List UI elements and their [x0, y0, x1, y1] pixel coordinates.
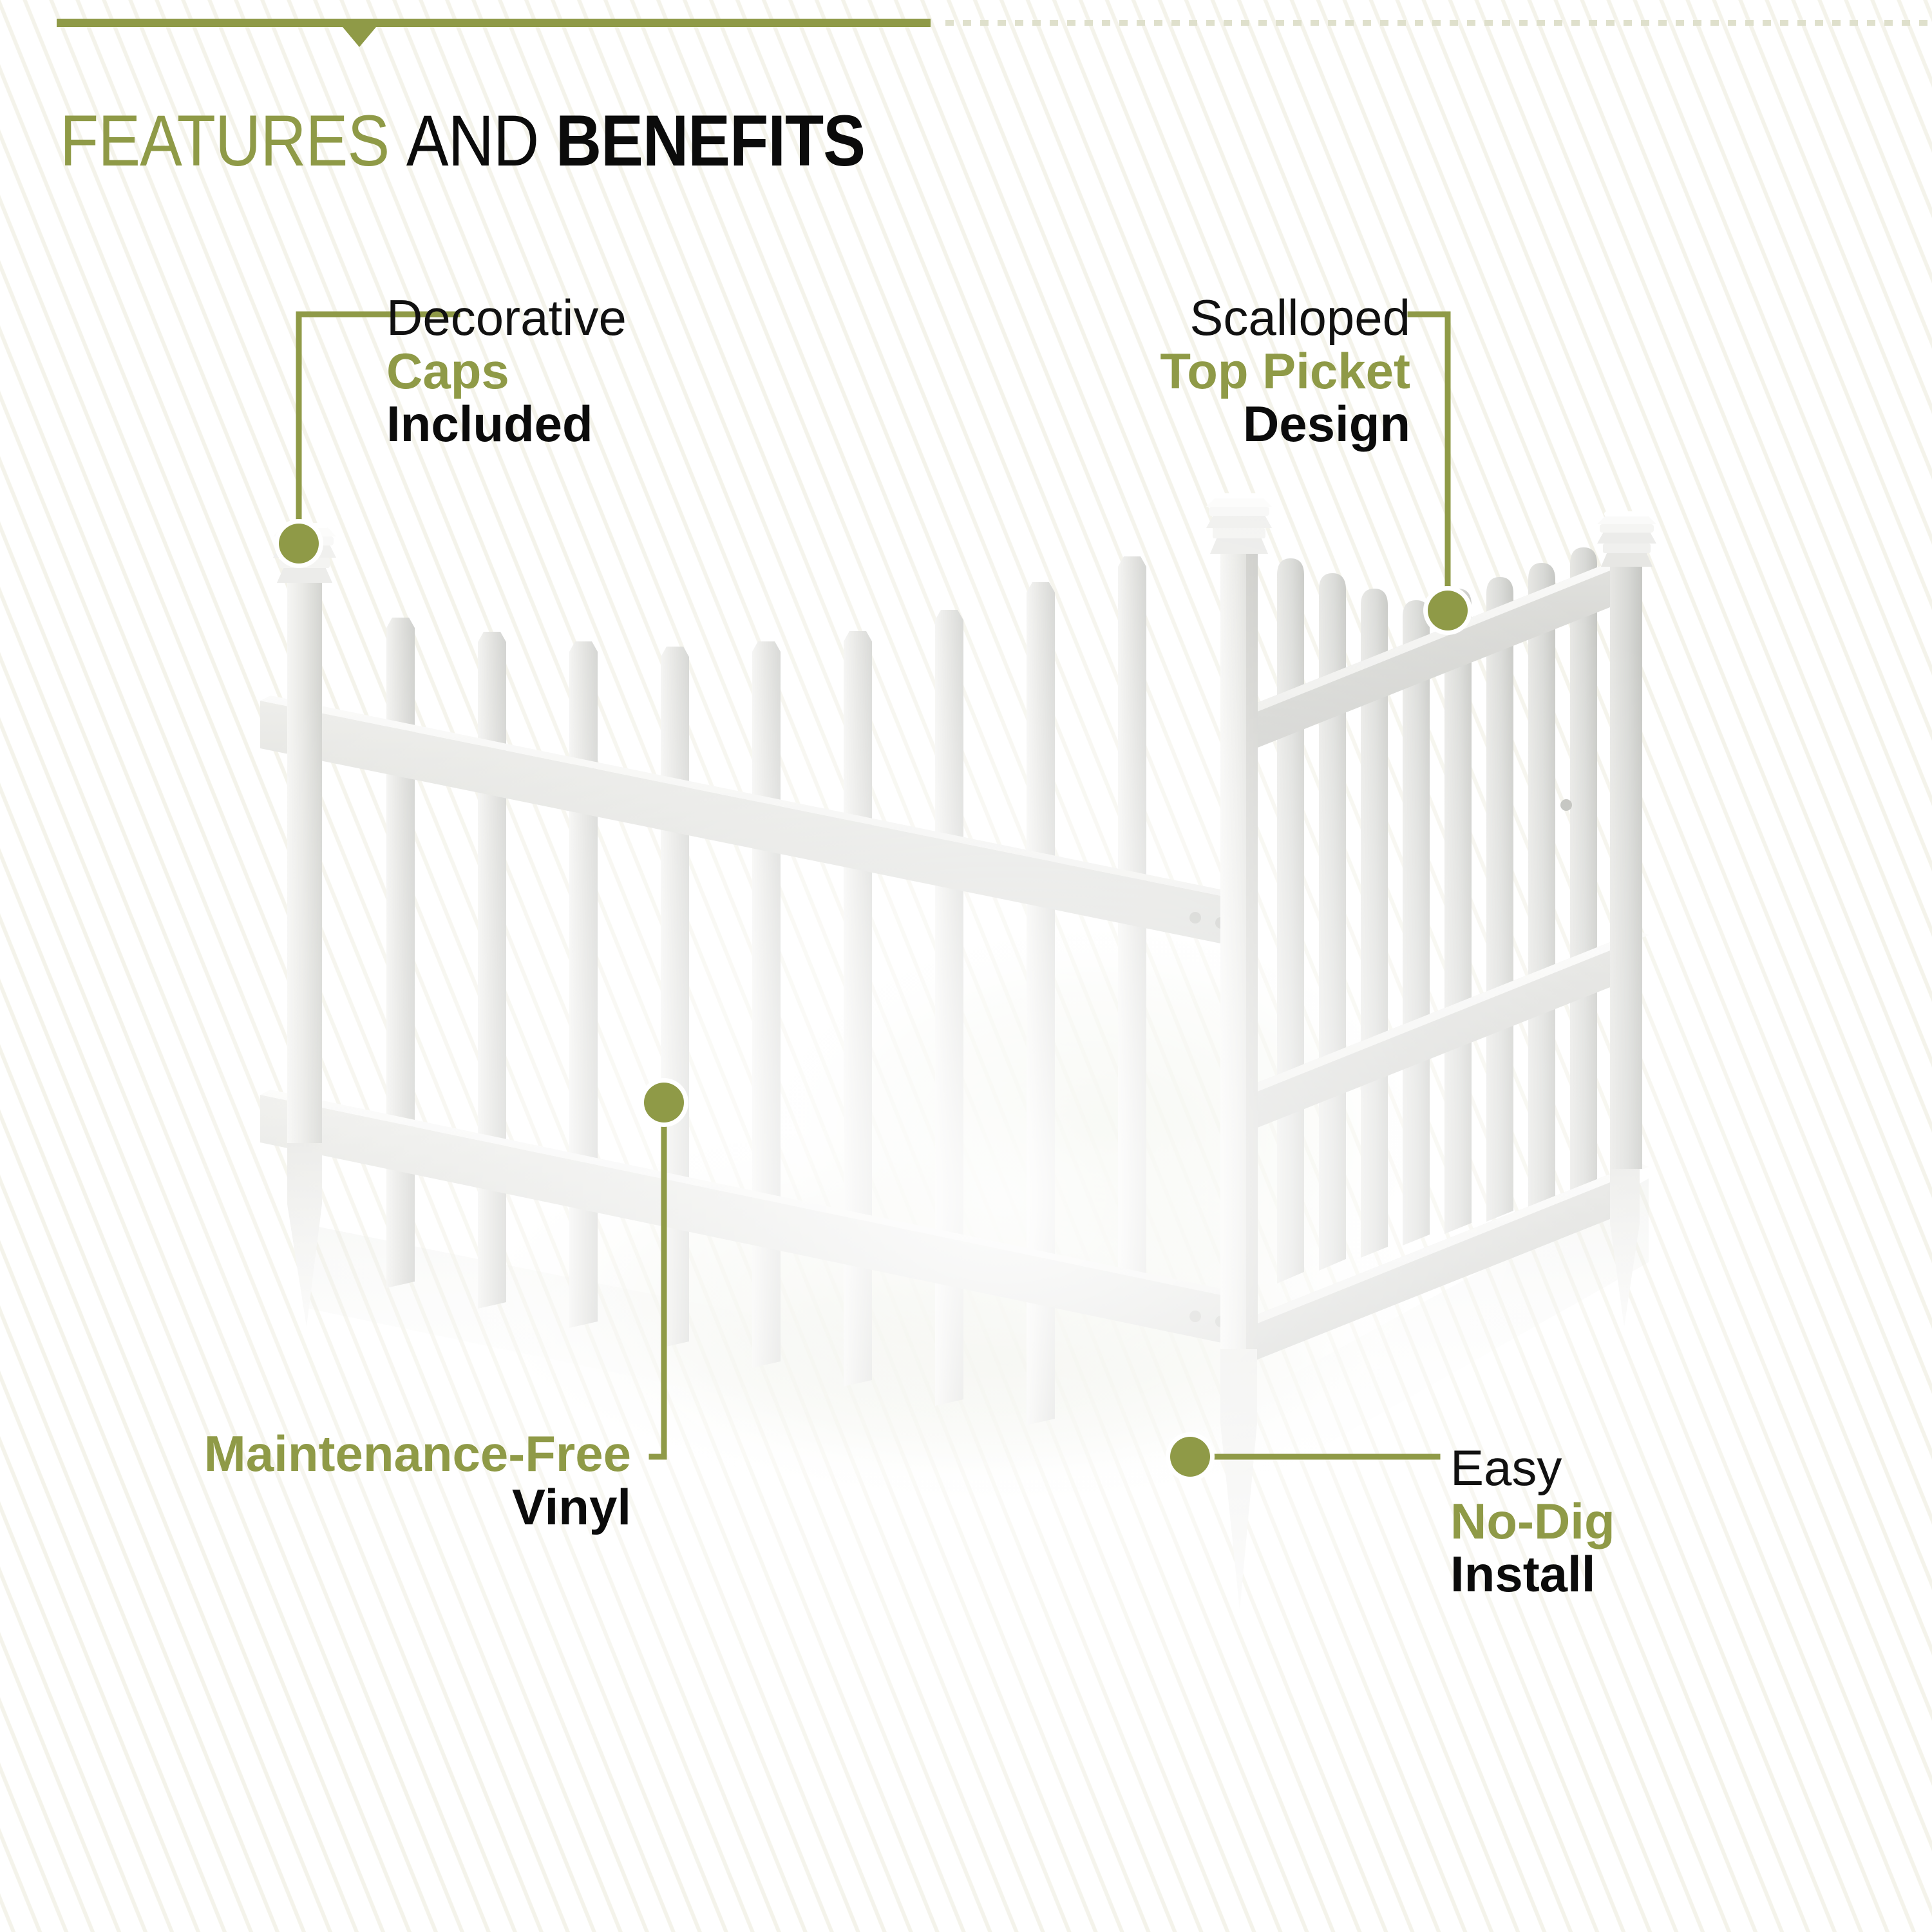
- title-features: FEATURES: [60, 100, 389, 181]
- callout-line-1: Scalloped: [969, 291, 1410, 345]
- dot-maintenance-free-vinyl[interactable]: [644, 1083, 684, 1122]
- callout-line-2: Vinyl: [129, 1481, 631, 1534]
- page-title: FEATURES AND BENEFITS: [60, 105, 865, 177]
- dot-scalloped-top-picket[interactable]: [1428, 591, 1468, 630]
- callout-line-2: Top Picket: [969, 345, 1410, 398]
- callout-line-1: Decorative: [386, 291, 627, 345]
- title-and-word: AND: [406, 100, 538, 181]
- callout-leaders: [0, 0, 1932, 1932]
- triangle-down-marker: [343, 27, 376, 47]
- title-space2: [538, 100, 556, 181]
- callout-scalloped-top-picket: Scalloped Top Picket Design: [969, 291, 1410, 451]
- title-benefits: BENEFITS: [556, 100, 865, 181]
- infographic-canvas: FEATURES AND BENEFITS Decorative Caps In…: [0, 0, 1932, 1932]
- callout-line-2: Caps: [386, 345, 627, 398]
- title-and: [389, 100, 406, 181]
- callout-line-1: Easy: [1450, 1441, 1615, 1495]
- callout-decorative-caps: Decorative Caps Included: [386, 291, 627, 451]
- callout-easy-no-dig-install: Easy No-Dig Install: [1450, 1441, 1615, 1601]
- callout-line-3: Included: [386, 397, 627, 451]
- callout-dots: [274, 519, 1472, 1481]
- leader-line-scalloped: [1410, 314, 1448, 590]
- dot-easy-no-dig-install[interactable]: [1170, 1437, 1210, 1477]
- header-rule-solid: [57, 19, 931, 27]
- callout-line-3: Design: [969, 397, 1410, 451]
- callout-line-1: Maintenance-Free: [129, 1427, 631, 1481]
- callout-line-2: No-Dig: [1450, 1495, 1615, 1548]
- dot-decorative-caps[interactable]: [279, 524, 319, 563]
- callout-maintenance-free-vinyl: Maintenance-Free Vinyl: [129, 1427, 631, 1533]
- leader-line-vinyl: [652, 1123, 664, 1457]
- header-rule-dashed: [945, 20, 1932, 26]
- callout-line-3: Install: [1450, 1548, 1615, 1601]
